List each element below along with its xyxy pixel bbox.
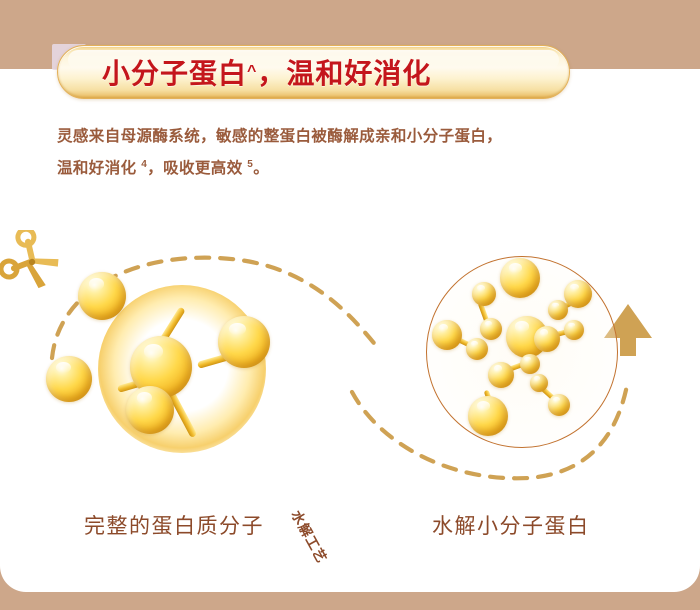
banner-title-text: 小分子蛋白^，温和好消化 <box>58 46 569 98</box>
bottom-background-band <box>0 592 700 610</box>
molecule-sphere <box>480 318 502 340</box>
banner-title-main: 小分子蛋白 <box>102 52 247 92</box>
molecule-sphere <box>548 394 570 416</box>
illustration-stage: 水解工艺 <box>0 230 700 520</box>
molecule-sphere <box>564 280 592 308</box>
caption-right: 水解小分子蛋白 <box>432 510 590 540</box>
banner-title-rest: ，温和好消化 <box>257 52 431 92</box>
title-banner: 小分子蛋白^，温和好消化 <box>57 45 570 99</box>
body-line-2-part-c: 。 <box>253 160 269 177</box>
caption-left: 完整的蛋白质分子 <box>84 510 264 540</box>
molecule-sphere <box>468 396 508 436</box>
molecule-sphere <box>534 326 560 352</box>
molecule-sphere <box>472 282 496 306</box>
body-line-2-part-a: 温和好消化 <box>57 160 141 177</box>
body-line-2-part-b: ，吸收更高效 <box>147 160 247 177</box>
molecule-sphere <box>564 320 584 340</box>
scissors-icon <box>0 230 64 294</box>
molecule-sphere <box>432 320 462 350</box>
molecule-sphere <box>466 338 488 360</box>
molecule-sphere <box>46 356 92 402</box>
molecule-sphere <box>548 300 568 320</box>
body-line-2: 温和好消化 4，吸收更高效 5。 <box>57 151 647 183</box>
molecule-sphere <box>500 258 540 298</box>
body-paragraph: 灵感来自母源酶系统，敏感的整蛋白被酶解成亲和小分子蛋白， 温和好消化 4，吸收更… <box>57 123 647 183</box>
molecule-sphere <box>218 316 270 368</box>
promo-page: 小分子蛋白^，温和好消化 灵感来自母源酶系统，敏感的整蛋白被酶解成亲和小分子蛋白… <box>0 0 700 610</box>
molecule-sphere <box>530 374 548 392</box>
molecule-sphere <box>488 362 514 388</box>
molecule-sphere <box>520 354 540 374</box>
molecule-sphere <box>78 272 126 320</box>
body-line-1: 灵感来自母源酶系统，敏感的整蛋白被酶解成亲和小分子蛋白， <box>57 123 647 151</box>
banner-title-superscript: ^ <box>247 63 257 81</box>
molecule-sphere <box>126 386 174 434</box>
